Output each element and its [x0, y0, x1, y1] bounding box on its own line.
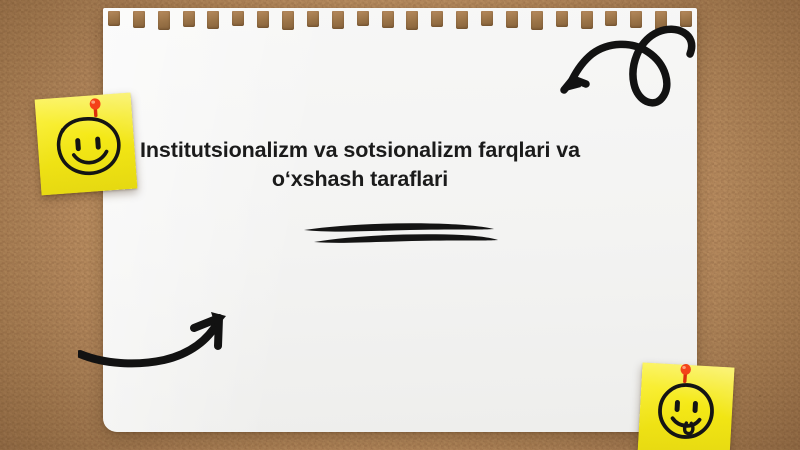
- perforation-tab: [307, 11, 319, 27]
- page-title-line-2: o‘xshash taraflari: [120, 165, 600, 194]
- perforation-tab: [282, 11, 294, 30]
- perforation-tab: [183, 11, 195, 27]
- sticky-note-top-left[interactable]: [35, 93, 138, 196]
- smiley-face-icon: [35, 93, 138, 196]
- perforation-tab: [108, 11, 120, 26]
- slide-canvas: Institutsionalizm va sotsionalizm farqla…: [0, 0, 800, 450]
- paper-sheen: [103, 8, 697, 432]
- perforation-tab-row: [103, 8, 697, 32]
- perforation-tab: [257, 11, 269, 28]
- perforation-tab: [680, 11, 692, 27]
- notebook-paper-sheet: [103, 8, 697, 432]
- page-title: Institutsionalizm va sotsionalizm farqla…: [120, 136, 600, 193]
- perforation-tab: [232, 11, 244, 26]
- perforation-tab: [357, 11, 369, 26]
- perforation-tab: [382, 11, 394, 28]
- perforation-tab: [332, 11, 344, 29]
- perforation-tab: [431, 11, 443, 27]
- perforation-tab: [581, 11, 593, 29]
- page-title-line-1: Institutsionalizm va sotsionalizm farqla…: [120, 136, 600, 165]
- perforation-tab: [481, 11, 493, 26]
- perforation-tab: [556, 11, 568, 27]
- smiley-face-tongue-icon: [638, 363, 735, 450]
- perforation-tab: [406, 11, 418, 30]
- perforation-tab: [456, 11, 468, 29]
- perforation-tab: [158, 11, 170, 30]
- sticky-note-bottom-right[interactable]: [638, 363, 735, 450]
- perforation-tab: [207, 11, 219, 29]
- perforation-tab: [605, 11, 617, 26]
- perforation-tab: [655, 11, 667, 30]
- perforation-tab: [531, 11, 543, 30]
- perforation-tab: [630, 11, 642, 28]
- perforation-tab: [506, 11, 518, 28]
- perforation-tab: [133, 11, 145, 28]
